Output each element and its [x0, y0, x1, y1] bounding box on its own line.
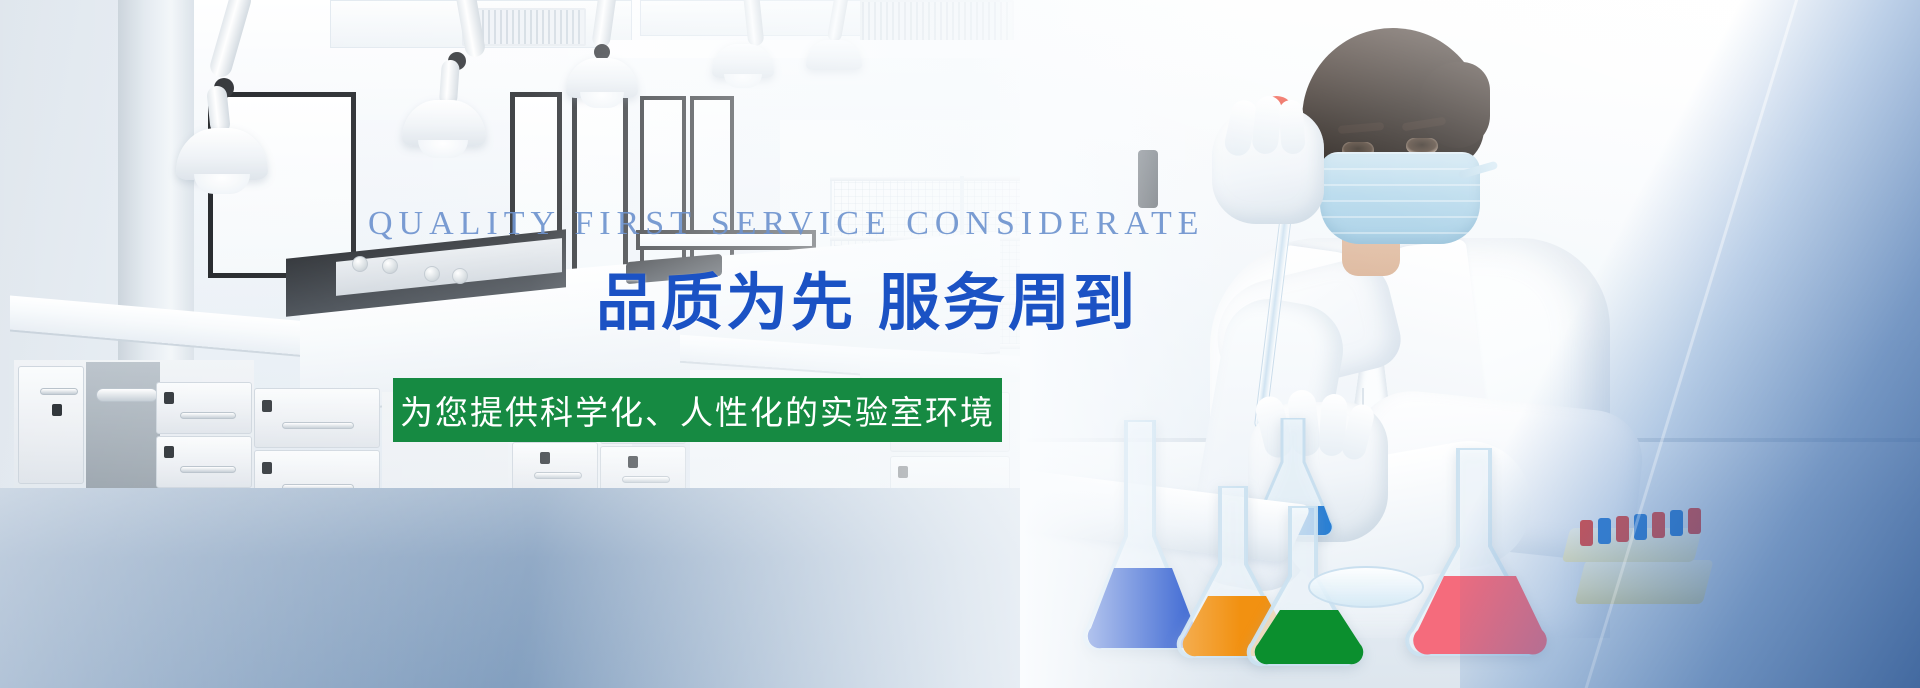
- lab-interior-scene: [0, 0, 1180, 688]
- headline-part-2: 服务周到: [878, 269, 1138, 338]
- test-tube: [1670, 510, 1683, 536]
- scene-haze-overlay: [0, 0, 1180, 688]
- test-tube-rack: [1575, 560, 1714, 604]
- banner-headline: 品质为先服务周到: [596, 252, 1138, 342]
- glove-finger: [1278, 99, 1306, 155]
- erlenmeyer-flask-pink: [1400, 448, 1550, 660]
- test-tube: [1616, 516, 1629, 542]
- test-tube: [1580, 520, 1593, 546]
- test-tube: [1652, 512, 1665, 538]
- face-mask: [1320, 152, 1480, 244]
- mask-pleats: [1320, 152, 1480, 244]
- photo-left-fade: [1020, 0, 1240, 688]
- technician-photo: [1020, 0, 1920, 688]
- banner-subtitle-bar: 为您提供科学化、人性化的实验室环境: [393, 378, 1002, 442]
- test-tube: [1598, 518, 1611, 544]
- eye-right: [1406, 138, 1438, 153]
- banner-eyebrow-text: QUALITY FIRST SERVICE CONSIDERATE: [368, 205, 1205, 243]
- banner-subtitle-text: 为您提供科学化、人性化的实验室环境: [400, 386, 995, 434]
- test-tube: [1688, 508, 1701, 534]
- hair-bun: [1420, 62, 1490, 148]
- headline-part-1: 品质为先: [596, 269, 856, 338]
- hero-banner: QUALITY FIRST SERVICE CONSIDERATE 品质为先服务…: [0, 0, 1920, 688]
- petri-dish: [1308, 566, 1424, 608]
